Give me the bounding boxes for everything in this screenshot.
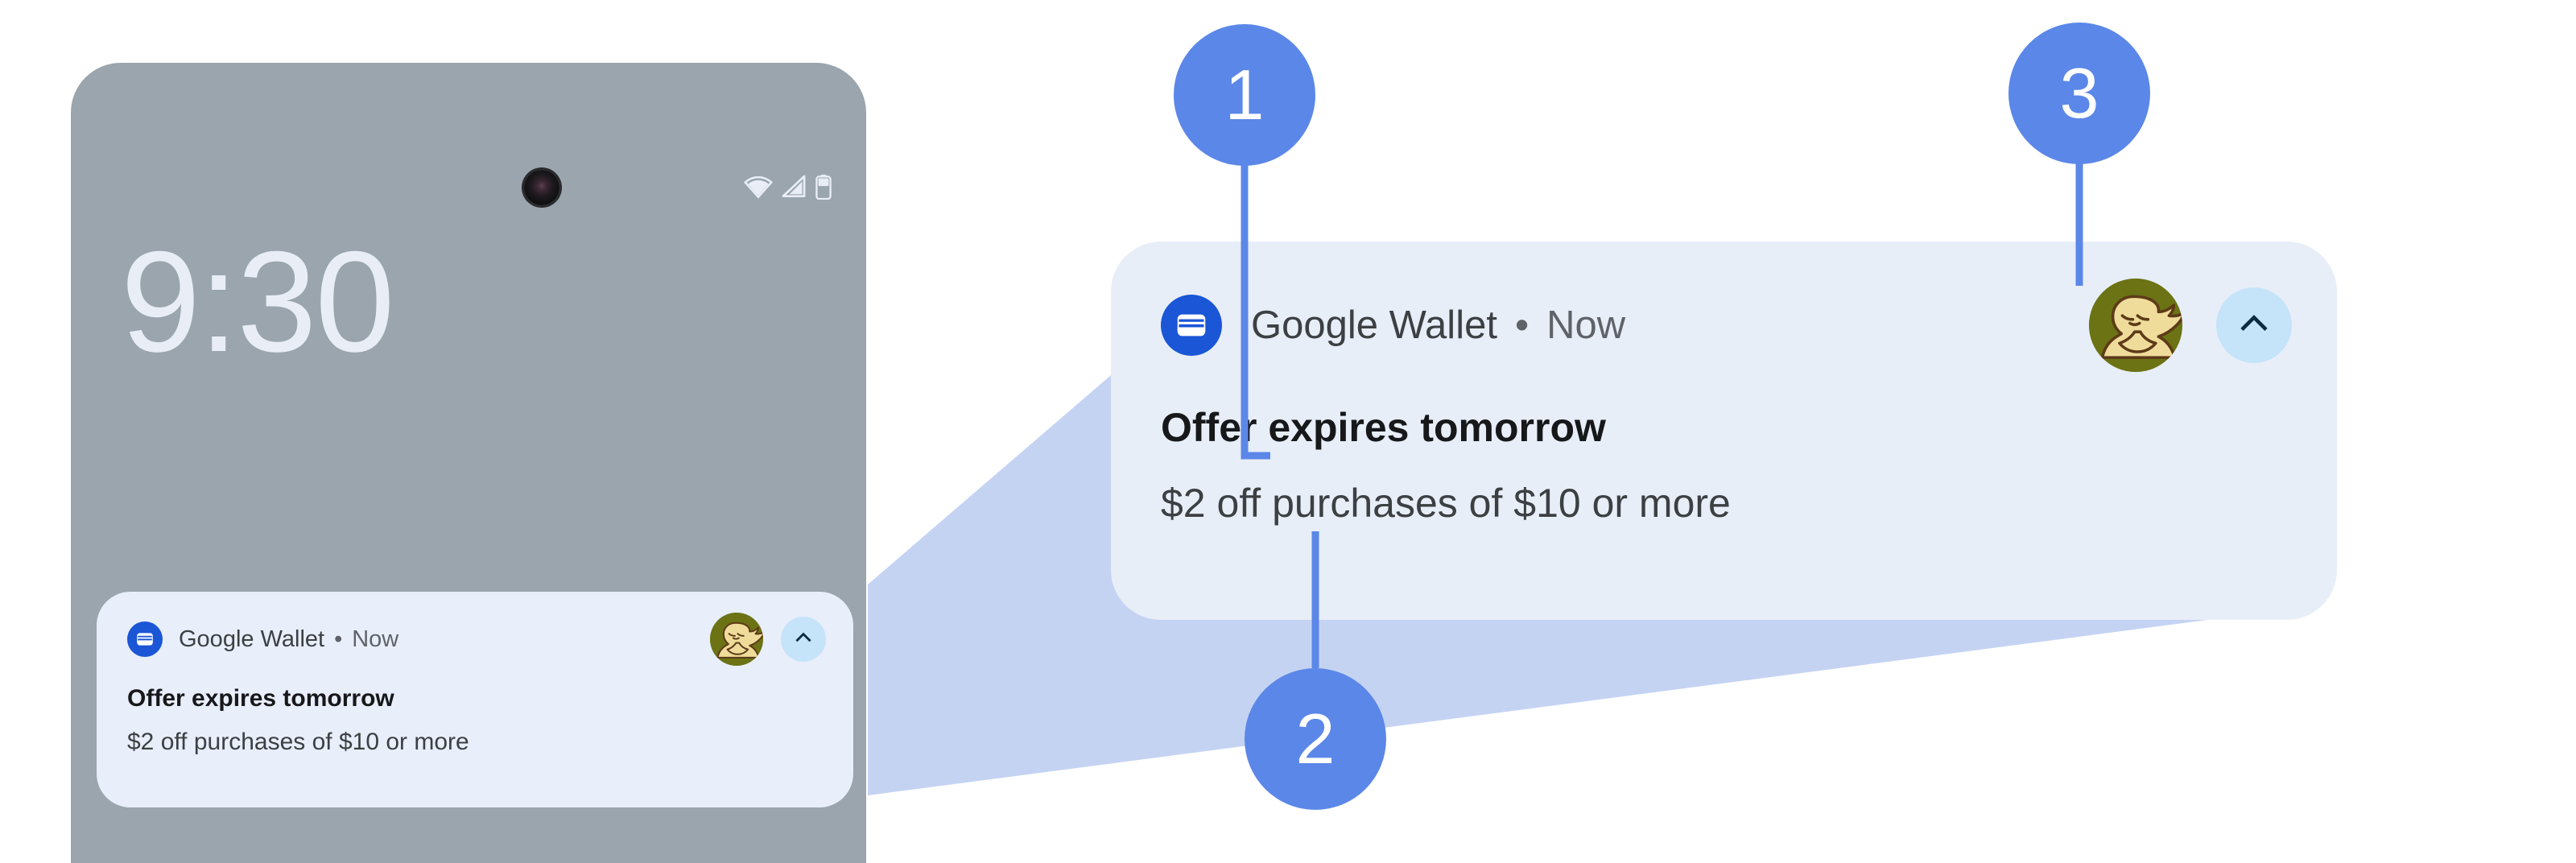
notification-header-enlarged: Google Wallet • Now: [1161, 291, 2337, 359]
chevron-up-icon: [793, 627, 814, 652]
notification-header-small: Google Wallet • Now: [127, 621, 826, 658]
expand-notification-button-small[interactable]: [781, 617, 826, 662]
merchant-avatar-small: [710, 613, 763, 666]
battery-icon: [815, 174, 832, 200]
expand-notification-button[interactable]: [2216, 287, 2292, 363]
status-bar-icons: [744, 174, 832, 200]
notification-timestamp: Now: [1546, 303, 1625, 348]
chevron-up-icon-enlarged: [2235, 305, 2273, 346]
notification-separator: •: [1515, 303, 1529, 348]
notification-title-small: Offer expires tomorrow: [127, 685, 826, 712]
notification-timestamp-small: Now: [352, 626, 398, 653]
notification-card-small[interactable]: Google Wallet • Now: [97, 592, 853, 807]
google-wallet-icon-enlarged: [1161, 295, 1222, 356]
lockscreen-clock: 9:30: [121, 230, 393, 374]
google-wallet-icon: [127, 621, 163, 657]
notification-app-name-small: Google Wallet: [179, 626, 324, 653]
callout-badge-2[interactable]: 2: [1245, 668, 1386, 810]
screenshot-stage: 9:30 Google Wallet • Now: [0, 0, 2576, 863]
merchant-avatar: [2089, 279, 2182, 372]
notification-separator-small: •: [334, 626, 342, 653]
front-camera-icon: [524, 170, 559, 205]
notification-title: Offer expires tomorrow: [1161, 404, 2337, 451]
notification-app-name: Google Wallet: [1251, 303, 1497, 348]
callout-badge-3[interactable]: 3: [2008, 23, 2150, 164]
phone-device-frame: 9:30 Google Wallet • Now: [71, 63, 866, 863]
notification-body: $2 off purchases of $10 or more: [1161, 480, 2337, 526]
notification-card-enlarged[interactable]: Google Wallet • Now: [1111, 242, 2337, 620]
callout-badge-1[interactable]: 1: [1174, 24, 1315, 166]
wifi-icon: [744, 175, 773, 199]
cell-signal-icon: [781, 175, 807, 199]
notification-body-small: $2 off purchases of $10 or more: [127, 729, 826, 756]
